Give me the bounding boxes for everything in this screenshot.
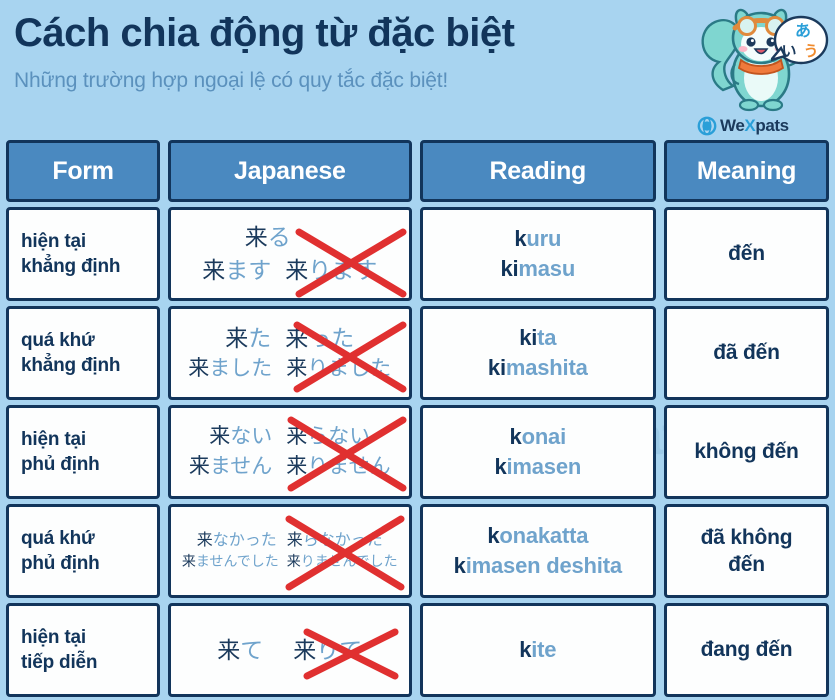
meaning-line-1: đã không	[701, 524, 793, 551]
cell-form: hiện tại tiếp diễn	[6, 603, 160, 697]
jp-kanji-wrong: 来	[293, 637, 316, 663]
reading-light: ite	[531, 637, 556, 662]
jp-kanji-wrong: 来	[285, 257, 308, 283]
jp-kana-wrong: りました	[307, 357, 391, 380]
cell-meaning: đã không đến	[664, 504, 829, 598]
svg-text:う: う	[803, 42, 818, 60]
globe-icon	[697, 116, 717, 136]
cell-reading: kite	[420, 603, 657, 697]
cell-japanese: 来る 来ます 来ります	[168, 207, 411, 301]
table-row: hiện tại khẳng định 来る 来ます 来ります kuru	[6, 207, 829, 301]
brand-label: WeXpats	[720, 116, 789, 136]
reading-light: imasen	[506, 454, 581, 479]
jp-kana-wrong: りませんでした	[301, 553, 398, 569]
jp-kanji: 来	[197, 532, 213, 549]
table-row: hiện tại phủ định 来ない 来らない 来ません 来りません	[6, 405, 829, 499]
reading-dark: k	[494, 454, 506, 479]
reading-dark: ki	[519, 325, 537, 350]
jp-kana: ません	[210, 455, 272, 478]
meaning-line-2: đến	[701, 551, 793, 578]
cell-reading: kuru kimasu	[420, 207, 657, 301]
cell-reading: konai kimasen	[420, 405, 657, 499]
wexpats-logo[interactable]: WeXpats	[697, 116, 789, 136]
jp-kanji: 来	[189, 455, 210, 478]
jp-kanji: 来	[245, 224, 268, 250]
form-line-1: hiện tại	[21, 625, 157, 650]
column-header-form: Form	[6, 140, 160, 202]
form-line-1: quá khứ	[21, 328, 157, 353]
reading-light: masu	[518, 256, 575, 281]
jp-kanji: 来	[202, 257, 225, 283]
meaning-text: đến	[728, 240, 765, 267]
cell-form: quá khứ khẳng định	[6, 306, 160, 400]
jp-kana-wrong: りません	[307, 455, 390, 478]
form-line-2: phủ định	[21, 551, 157, 576]
jp-kanji-wrong: 来	[285, 325, 308, 351]
form-line-1: hiện tại	[21, 427, 157, 452]
column-header-meaning: Meaning	[664, 140, 829, 202]
jp-kana: ました	[209, 357, 272, 380]
jp-kanji-wrong: 来	[287, 532, 303, 549]
jp-kana: た	[248, 325, 271, 351]
cell-japanese: 来なかった 来らなかった 来ませんでした 来りませんでした	[168, 504, 411, 598]
cell-reading: konakatta kimasen deshita	[420, 504, 657, 598]
jp-kanji: 来	[217, 637, 240, 663]
jp-kanji-wrong: 来	[286, 357, 307, 380]
meaning-text: không đến	[694, 438, 798, 465]
cell-meaning: đã đến	[664, 306, 829, 400]
reading-dark: ki	[500, 256, 518, 281]
reading-light: uru	[526, 226, 561, 251]
reading-light: mashita	[506, 355, 588, 380]
speech-bubble-icon: あ い う	[771, 14, 829, 70]
svg-text:い: い	[781, 42, 796, 60]
cell-meaning: không đến	[664, 405, 829, 499]
meaning-text: đang đến	[701, 636, 793, 663]
column-header-reading: Reading	[420, 140, 657, 202]
jp-kanji: 来	[182, 553, 196, 569]
reading-light: onakatta	[499, 523, 588, 548]
cell-japanese: 来た 来った 来ました 来りました	[168, 306, 411, 400]
reading-light: onai	[522, 424, 566, 449]
jp-kanji: 来	[225, 325, 248, 351]
table-header-row: Form Japanese Reading Meaning	[6, 140, 829, 202]
jp-kanji-wrong: 来	[286, 455, 307, 478]
form-line-2: khẳng định	[21, 353, 157, 378]
column-header-japanese: Japanese	[168, 140, 411, 202]
reading-dark: k	[519, 637, 531, 662]
jp-kana: ませんでした	[196, 553, 279, 569]
table-row: quá khứ phủ định 来なかった 来らなかった 来ませんでした 来り…	[6, 504, 829, 598]
svg-text:あ: あ	[795, 21, 811, 40]
mascot-logo-block: あ い う WeXpats	[689, 2, 829, 138]
reading-dark: ki	[488, 355, 506, 380]
reading-dark: k	[514, 226, 526, 251]
table-row: hiện tại tiếp diễn 来て 来りて kite đang đến	[6, 603, 829, 697]
page-header: Cách chia động từ đặc biệt Những trường …	[0, 0, 835, 140]
jp-kana: ない	[230, 425, 272, 448]
cell-japanese: 来ない 来らない 来ません 来りません	[168, 405, 411, 499]
cell-form: hiện tại khẳng định	[6, 207, 160, 301]
jp-kanji-wrong: 来	[286, 425, 307, 448]
form-line-2: phủ định	[21, 452, 157, 477]
jp-kana: ます	[225, 257, 271, 283]
table-row: quá khứ khẳng định 来た 来った 来ました 来りました	[6, 306, 829, 400]
reading-light: ta	[537, 325, 556, 350]
conjugation-table: Form Japanese Reading Meaning hiện tại k…	[6, 140, 829, 697]
cell-japanese: 来て 来りて	[168, 603, 411, 697]
reading-dark: k	[510, 424, 522, 449]
jp-kana-wrong: らない	[307, 425, 370, 448]
jp-kana-wrong: った	[308, 325, 354, 351]
reading-dark: k	[487, 523, 499, 548]
form-line-1: quá khứ	[21, 526, 157, 551]
jp-kanji: 来	[209, 425, 230, 448]
cell-meaning: đang đến	[664, 603, 829, 697]
jp-kana: て	[240, 637, 263, 663]
cell-reading: kita kimashita	[420, 306, 657, 400]
jp-kana: る	[268, 224, 291, 250]
jp-kana-wrong: りて	[316, 637, 362, 663]
jp-kanji-wrong: 来	[287, 553, 301, 569]
cell-form: hiện tại phủ định	[6, 405, 160, 499]
form-line-1: hiện tại	[21, 229, 157, 254]
jp-kana: なかった	[213, 532, 277, 549]
jp-kana-wrong: ります	[308, 257, 377, 283]
cell-meaning: đến	[664, 207, 829, 301]
jp-kanji: 来	[188, 357, 209, 380]
reading-light: imasen deshita	[466, 553, 622, 578]
form-line-2: tiếp diễn	[21, 650, 157, 675]
meaning-text: đã đến	[713, 339, 779, 366]
reading-dark: k	[454, 553, 466, 578]
cell-form: quá khứ phủ định	[6, 504, 160, 598]
jp-kana-wrong: らなかった	[303, 532, 383, 549]
form-line-2: khẳng định	[21, 254, 157, 279]
